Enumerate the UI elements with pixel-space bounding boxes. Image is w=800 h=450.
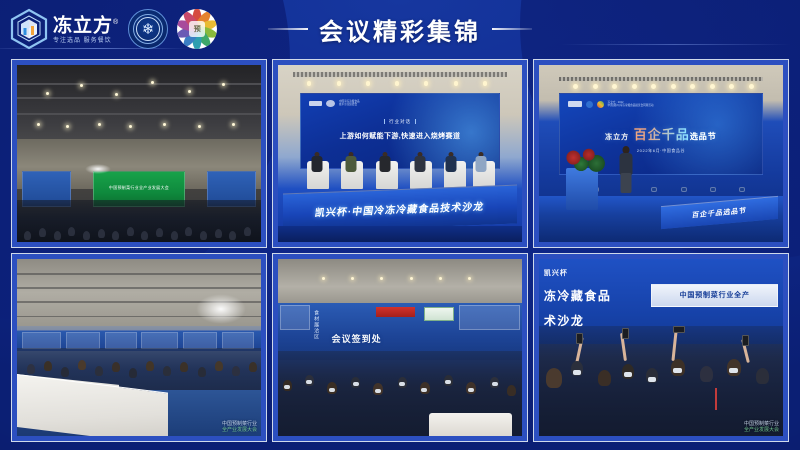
window-glare: [196, 294, 246, 324]
logo-core-text: 预: [189, 21, 205, 37]
photo-frame-6[interactable]: 凯兴杯 冻冷藏食品 术沙龙 中国预制菜行业全产: [533, 253, 789, 442]
photo-6-crowd-with-phones: 凯兴杯 冻冷藏食品 术沙龙 中国预制菜行业全产: [539, 259, 783, 436]
page-title: 会议精彩集锦: [319, 12, 481, 47]
photo-3-keynote-speaker: 冻立方 · 2022 中国(郑州)冷冻冷藏食品展览会同期活动 冻立方 百企千品选…: [539, 65, 783, 242]
page-header: 冻立方® 专注选品 服务餐饮 ❄ 预: [0, 0, 800, 58]
logo-group: 冻立方® 专注选品 服务餐饮 ❄ 预: [0, 8, 217, 50]
lighting-truss: [559, 77, 764, 81]
photo-frame-2[interactable]: 中国冷冻冷藏食品 技术沙龙组委会 行业对话 上游如何赋能下游,快速进入烧烤赛道 …: [272, 59, 528, 248]
sponsor-logo-chip: [309, 101, 322, 106]
title-rule-left: [268, 28, 308, 30]
photo-frame-1[interactable]: 中国预制菜行业全产业发展大会: [11, 59, 267, 248]
overhead-banner-text: 中国预制菜行业全产: [680, 290, 750, 300]
led-main-title: 冻立方 百企千品选品节: [560, 124, 763, 143]
photo-grid: 中国预制菜行业全产业发展大会: [11, 59, 789, 442]
stage-led-screen: 中国冷冻冷藏食品 技术沙龙组委会 行业对话 上游如何赋能下游,快速进入烧烤赛道: [300, 93, 500, 169]
stage-banner-text: 凯兴杯·中国冷冻冷藏食品技术沙龙: [314, 198, 485, 220]
stage-floor: [278, 226, 522, 242]
led-organizer-text: 冻立方 · 2022 中国(郑州)冷冻冷藏食品展览会同期活动: [608, 101, 654, 108]
hall-ceiling: [278, 259, 522, 305]
backdrop-text-line-1: 凯兴杯: [544, 268, 568, 278]
led-headline: 上游如何赋能下游,快速进入烧烤赛道: [301, 131, 499, 141]
snowflake-badge-logo[interactable]: ❄: [128, 9, 168, 49]
led-brand-row: 冻立方 · 2022 中国(郑州)冷冻冷藏食品展览会同期活动: [568, 101, 654, 108]
green-signboard: [424, 307, 453, 321]
flower-arrangement: [559, 146, 608, 174]
sponsor-logo-circle: [326, 100, 335, 107]
hexagon-cube-icon: [9, 8, 49, 50]
photo-frame-4[interactable]: 中国预制菜行业 全产业发展大会: [11, 253, 267, 442]
led-sponsor-row: 中国冷冻冷藏食品 技术沙龙组委会: [309, 100, 360, 107]
sponsor-logo-circle-color: [597, 101, 604, 108]
colorful-circle-logo[interactable]: 预: [177, 9, 217, 49]
stage-screen-text: 中国预制菜行业全产业发展大会: [94, 185, 185, 191]
photo-frame-3[interactable]: 冻立方 · 2022 中国(郑州)冷冻冷藏食品展览会同期活动 冻立方 百企千品选…: [533, 59, 789, 248]
led-organizer-text: 中国冷冻冷藏食品 技术沙龙组委会: [339, 100, 360, 107]
overhead-banner: 中国预制菜行业全产: [651, 284, 778, 307]
hall-ceiling: [17, 65, 261, 146]
led-section-tag: 行业对话: [301, 119, 499, 125]
speaker-figure: [615, 146, 637, 206]
donglifang-logo[interactable]: 冻立方® 专注选品 服务餐饮: [9, 8, 119, 50]
photo-5-packed-audience: 食材展洽区 会议签到处: [278, 259, 522, 436]
registration-sign-text: 会议签到处: [332, 332, 382, 345]
lens-flare: [85, 164, 111, 174]
sponsor-logo-chip: [568, 101, 582, 107]
photo-watermark: 中国预制菜行业 全产业发展大会: [744, 421, 779, 433]
lighting-truss: [293, 72, 508, 77]
photo-watermark: 中国预制菜行业 全产业发展大会: [222, 421, 257, 433]
audience-crowd: [539, 326, 783, 436]
registered-mark: ®: [113, 19, 119, 26]
photo-1-conference-hall: 中国预制菜行业全产业发展大会: [17, 65, 261, 242]
brand-name: 冻立方®: [53, 12, 119, 36]
badge-inner-ring: [136, 17, 160, 41]
photo-2-panel-discussion: 中国冷冻冷藏食品 技术沙龙组委会 行业对话 上游如何赋能下游,快速进入烧烤赛道 …: [278, 65, 522, 242]
sponsor-logo-circle-blue: [586, 101, 593, 108]
vertical-sign-text: 食材展洽区: [312, 310, 319, 340]
title-rule-right: [492, 28, 532, 30]
audience-silhouettes: [17, 200, 261, 242]
round-table: [429, 413, 512, 436]
stage-front-text: 百企千品选品节: [691, 206, 747, 221]
photo-frame-5[interactable]: 食材展洽区 会议签到处: [272, 253, 528, 442]
red-signboard: [376, 307, 415, 318]
photo-4-seated-audience: 中国预制菜行业 全产业发展大会: [17, 259, 261, 436]
brand-tagline: 专注选品 服务餐饮: [53, 37, 119, 46]
brand-text: 冻立方® 专注选品 服务餐饮: [53, 12, 119, 45]
backdrop-text-line-2: 冻冷藏食品: [544, 287, 612, 304]
